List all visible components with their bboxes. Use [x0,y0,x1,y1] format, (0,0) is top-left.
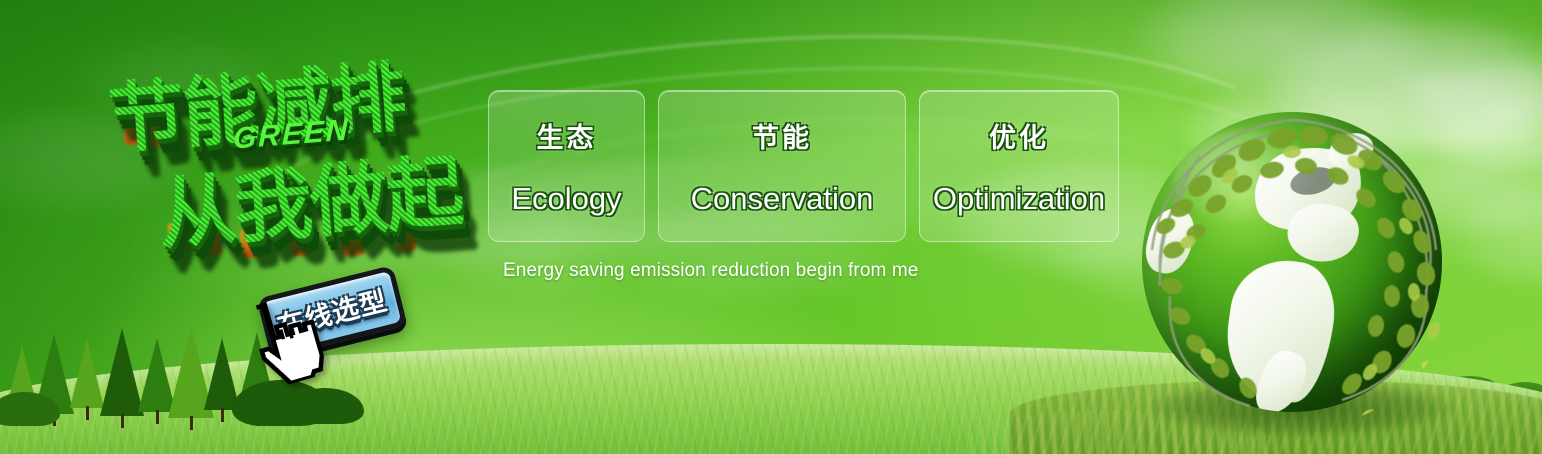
card-optimization-en: Optimization [933,181,1105,217]
card-conservation-cn: 节能 [752,116,812,155]
card-conservation-en: Conservation [691,181,874,217]
card-ecology-cn: 生态 [537,116,597,155]
feature-cards: 生态 Ecology 节能 Conservation 优化 Optimizati… [488,90,1119,242]
card-optimization[interactable]: 优化 Optimization [919,90,1119,242]
card-conservation[interactable]: 节能 Conservation [658,90,906,242]
eco-hero-banner: 节能减排 GREEN 从我做起 在线选型 生态 Ecology 节能 Conse… [0,0,1542,454]
card-optimization-cn: 优化 [989,116,1049,155]
card-ecology[interactable]: 生态 Ecology [488,90,645,242]
card-ecology-en: Ecology [511,181,621,217]
tagline: Energy saving emission reduction begin f… [503,260,918,282]
